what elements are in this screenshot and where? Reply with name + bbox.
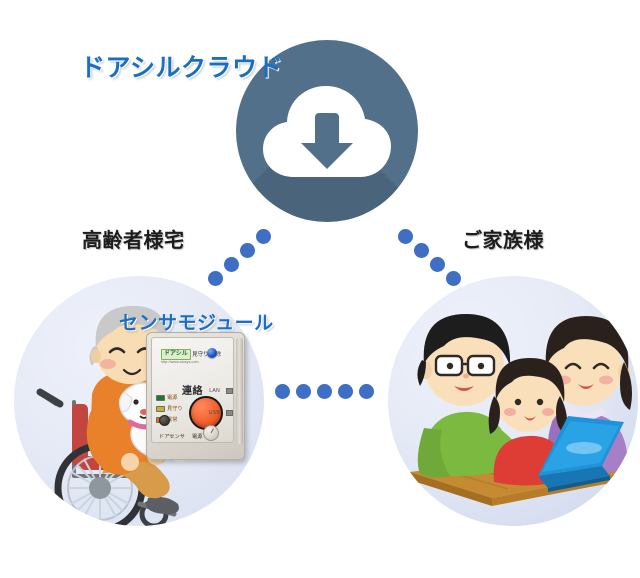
lan-port-label: LAN (209, 388, 220, 394)
device-brand-url: http://www.alosys.com (161, 360, 199, 365)
connector-dot-right (414, 243, 429, 258)
cloud-title: ドアシルクラウド (80, 48, 283, 84)
led-watch-chip (156, 406, 165, 412)
led-power-label: 電源 (167, 394, 177, 401)
family-scene-title: ご家族様 (462, 224, 544, 253)
mode-led-indicator (207, 348, 217, 358)
home-scene-title: 高齢者様宅 (82, 224, 185, 253)
connector-dot-right (446, 271, 461, 286)
connector-dot-center (317, 384, 332, 399)
usb-port-label: USB (209, 410, 220, 416)
connector-dot-center (338, 384, 353, 399)
door-sensor-knob[interactable] (159, 415, 170, 426)
family-scene-circle (388, 276, 638, 526)
device-side-rail (236, 338, 243, 444)
usb-port-slot (226, 410, 233, 416)
connector-dot-right (398, 229, 413, 244)
led-row-power: 電源 (156, 394, 177, 401)
power-dial[interactable] (203, 425, 219, 441)
connector-dot-center (275, 384, 290, 399)
device-brand-badge: ドアシル (161, 349, 191, 360)
led-watch-label: 見守り (167, 405, 183, 412)
connector-dot-left (256, 229, 271, 244)
connector-dot-left (224, 257, 239, 272)
cloud-download-icon (261, 77, 393, 185)
connector-dot-left (240, 243, 255, 258)
sensor-module-title: センサモジュール (119, 308, 274, 335)
connector-dot-left (208, 271, 223, 286)
diagram-canvas: ドアシル http://www.alosys.com 見守り/解除 連絡 電源 … (0, 0, 640, 578)
power-label: 電源 (192, 433, 202, 440)
device-faceplate: ドアシル http://www.alosys.com 見守り/解除 連絡 電源 … (151, 337, 234, 443)
led-power-chip (156, 395, 165, 401)
device-call-button-label: 連絡 (182, 382, 203, 397)
connector-dot-center (359, 384, 374, 399)
connector-dot-center (296, 384, 311, 399)
connector-dot-right (430, 257, 445, 272)
led-row-watch: 見守り (156, 405, 183, 412)
door-sensor-label: ドアセンサ (159, 433, 185, 440)
sensor-module-device[interactable]: ドアシル http://www.alosys.com 見守り/解除 連絡 電源 … (146, 332, 245, 460)
lan-port-slot (226, 388, 233, 394)
family-at-laptop-illustration (388, 276, 638, 526)
